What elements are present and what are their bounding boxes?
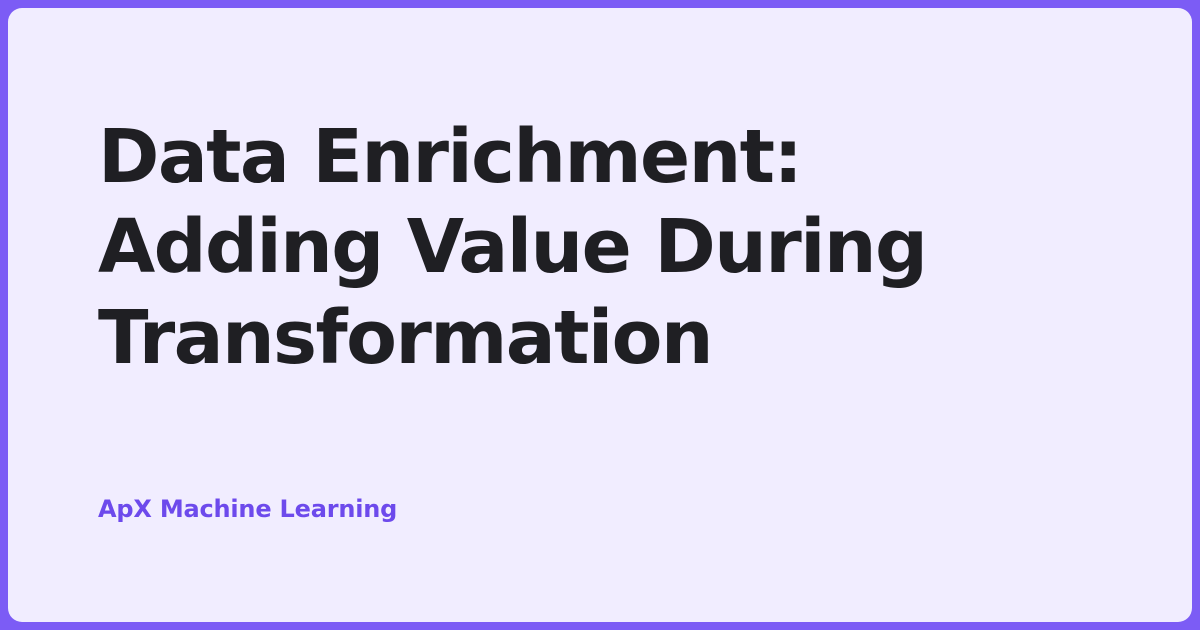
page-title: Data Enrichment: Adding Value During Tra… [98, 112, 1088, 383]
card-content: Data Enrichment: Adding Value During Tra… [98, 112, 1098, 383]
social-card: Data Enrichment: Adding Value During Tra… [8, 8, 1192, 622]
site-byline: ApX Machine Learning [98, 495, 397, 523]
